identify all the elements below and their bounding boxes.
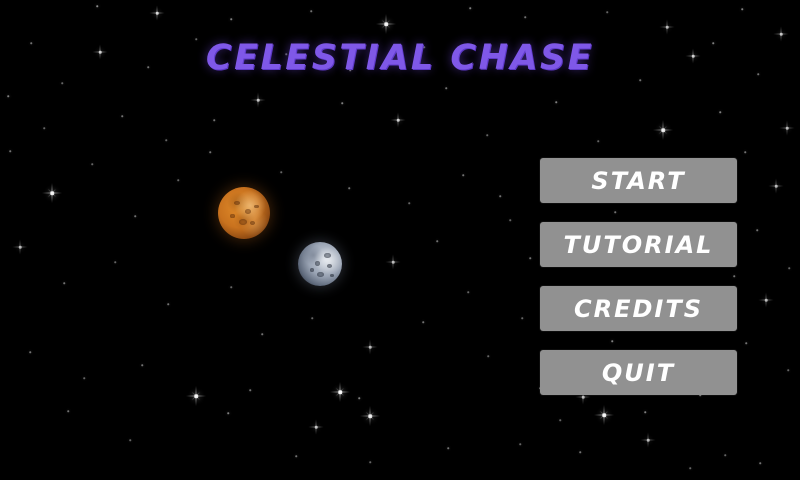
star-icon [504, 214, 516, 226]
star-icon [464, 2, 476, 14]
star-icon [2, 90, 14, 102]
star-icon [767, 177, 785, 195]
star-icon [4, 145, 16, 157]
star-icon [306, 312, 318, 324]
star-icon [482, 350, 494, 362]
start-button[interactable]: START [540, 158, 737, 203]
star-icon [592, 403, 616, 427]
star-icon [109, 256, 121, 268]
moon-crater [317, 272, 324, 277]
star-icon [658, 18, 676, 36]
star-icon [129, 210, 141, 222]
star-icon [184, 384, 208, 408]
credits-button[interactable]: CREDITS [540, 286, 737, 331]
star-icon [58, 277, 70, 289]
star-icon [751, 224, 763, 236]
star-icon [440, 82, 452, 94]
star-icon [78, 372, 90, 384]
star-icon [524, 252, 536, 264]
star-icon [62, 405, 74, 417]
star-icon [714, 106, 726, 118]
moon-crater [324, 253, 331, 259]
star-icon [343, 182, 355, 194]
star-icon [592, 135, 604, 147]
star-icon [550, 96, 562, 108]
star-icon [244, 384, 256, 396]
star-icon [554, 414, 566, 426]
star-icon [208, 114, 220, 126]
star-icon [514, 438, 526, 450]
planet-crater [250, 221, 255, 225]
star-icon [249, 91, 267, 109]
star-icon [222, 407, 234, 419]
star-icon [494, 190, 506, 202]
star-icon [740, 337, 752, 349]
star-icon [307, 418, 325, 436]
star-icon [275, 166, 287, 178]
star-icon [305, 5, 317, 17]
star-icon [462, 286, 474, 298]
star-icon [148, 4, 166, 22]
star-icon [757, 291, 775, 309]
star-icon [162, 298, 174, 310]
star-icon [136, 359, 148, 371]
quit-button[interactable]: QUIT [540, 350, 737, 395]
star-icon [172, 174, 184, 186]
star-icon [574, 446, 586, 458]
star-icon [739, 146, 751, 158]
star-icon [639, 431, 657, 449]
star-icon [24, 346, 36, 358]
star-icon [225, 281, 237, 293]
planet-crater [254, 205, 259, 209]
star-icon [417, 316, 429, 328]
game-title: CELESTIAL CHASE [0, 38, 800, 78]
star-icon [754, 457, 766, 469]
star-icon [328, 380, 352, 404]
star-icon [639, 406, 651, 418]
game-menu-screen: CELESTIAL CHASE STARTTUTORIALCREDITSQUIT [0, 0, 800, 480]
planet-crater [239, 219, 247, 225]
moon-crater [330, 274, 334, 278]
star-icon [160, 134, 172, 146]
star-icon [778, 119, 796, 137]
moon-crater [315, 261, 321, 266]
star-icon [38, 122, 50, 134]
star-icon [116, 110, 128, 122]
planet-crater [230, 214, 234, 218]
star-icon [403, 197, 415, 209]
star-icon [516, 312, 528, 324]
planet-crater [234, 201, 241, 206]
star-icon [783, 262, 795, 274]
star-icon [601, 6, 613, 18]
orange-planet [218, 187, 270, 239]
star-icon [736, 3, 748, 15]
moon-crater [327, 264, 332, 268]
tutorial-button[interactable]: TUTORIAL [540, 222, 737, 267]
star-icon [431, 235, 443, 247]
planet-crater [245, 209, 251, 214]
star-icon [389, 111, 407, 129]
star-icon [353, 392, 365, 404]
star-icon [290, 450, 302, 462]
star-icon [374, 12, 398, 36]
gray-moon [298, 242, 342, 286]
star-icon [651, 118, 675, 142]
star-icon [358, 404, 382, 428]
star-icon [225, 13, 237, 25]
star-icon [364, 456, 376, 468]
star-icon [86, 158, 98, 170]
star-icon [91, 0, 103, 12]
star-icon [11, 238, 29, 256]
star-icon [782, 364, 794, 376]
moon-crater [310, 268, 314, 272]
star-icon [56, 77, 68, 89]
main-menu: STARTTUTORIALCREDITSQUIT [540, 158, 737, 395]
star-icon [361, 338, 379, 356]
star-icon [719, 449, 731, 461]
star-icon [40, 181, 64, 205]
star-icon [519, 11, 531, 23]
star-icon [124, 434, 136, 446]
star-icon [457, 169, 469, 181]
star-icon [684, 462, 696, 474]
star-icon [336, 97, 348, 109]
star-icon [384, 253, 402, 271]
star-icon [256, 328, 268, 340]
star-icon [442, 442, 454, 454]
star-icon [481, 129, 493, 141]
star-icon [204, 146, 216, 158]
